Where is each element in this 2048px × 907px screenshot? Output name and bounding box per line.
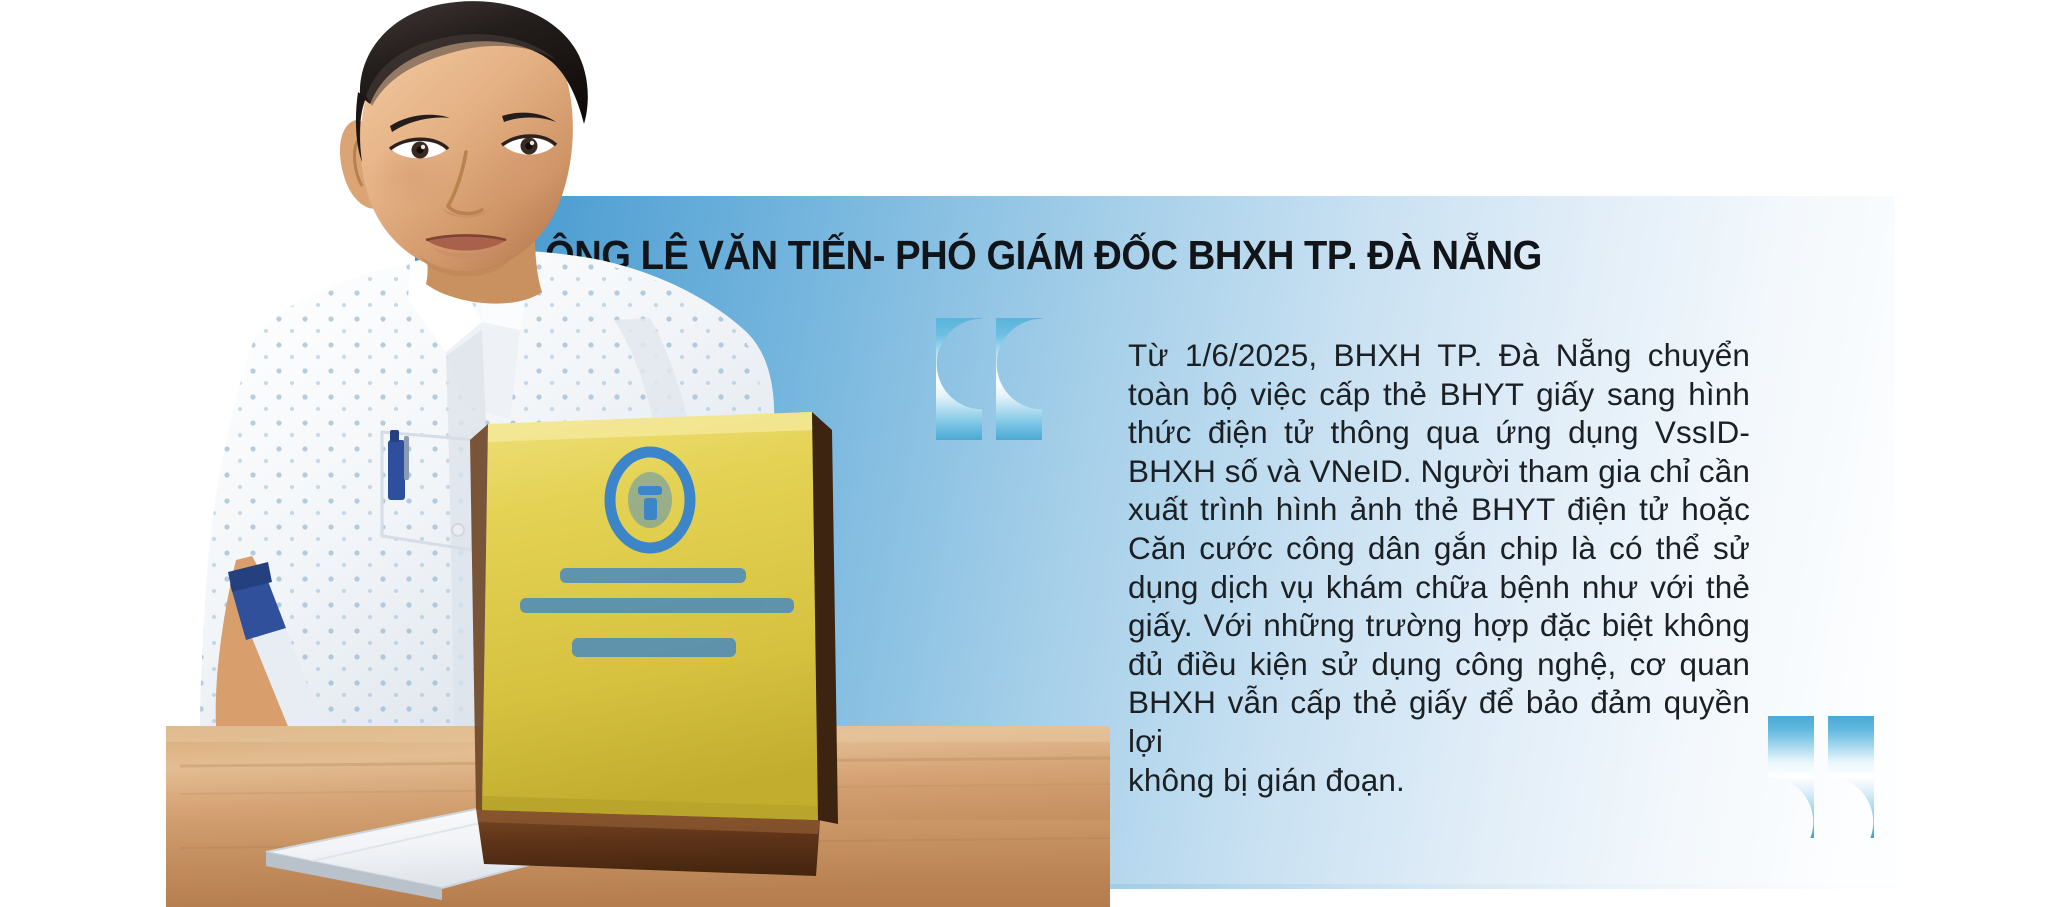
close-quote-icon [1768,716,1874,838]
close-quote-stroke-right [1828,716,1874,838]
close-quote-stroke-left [1768,716,1814,838]
subject-head [340,1,588,276]
portrait-photo [90,0,1110,907]
quote-paragraph: Từ 1/6/2025, BHXH TP. Đà Nẵng chuyển toà… [1128,336,1750,761]
desk-nameplate [470,412,838,876]
quote-body: Từ 1/6/2025, BHXH TP. Đà Nẵng chuyển toà… [1128,336,1750,799]
quote-card-stage: ÔNG LÊ VĂN TIẾN- PHÓ GIÁM ĐỐC BHXH TP. Đ… [0,0,2048,907]
quote-paragraph-last: không bị gián đoạn. [1128,761,1750,800]
portrait-photo-svg [90,0,1110,907]
